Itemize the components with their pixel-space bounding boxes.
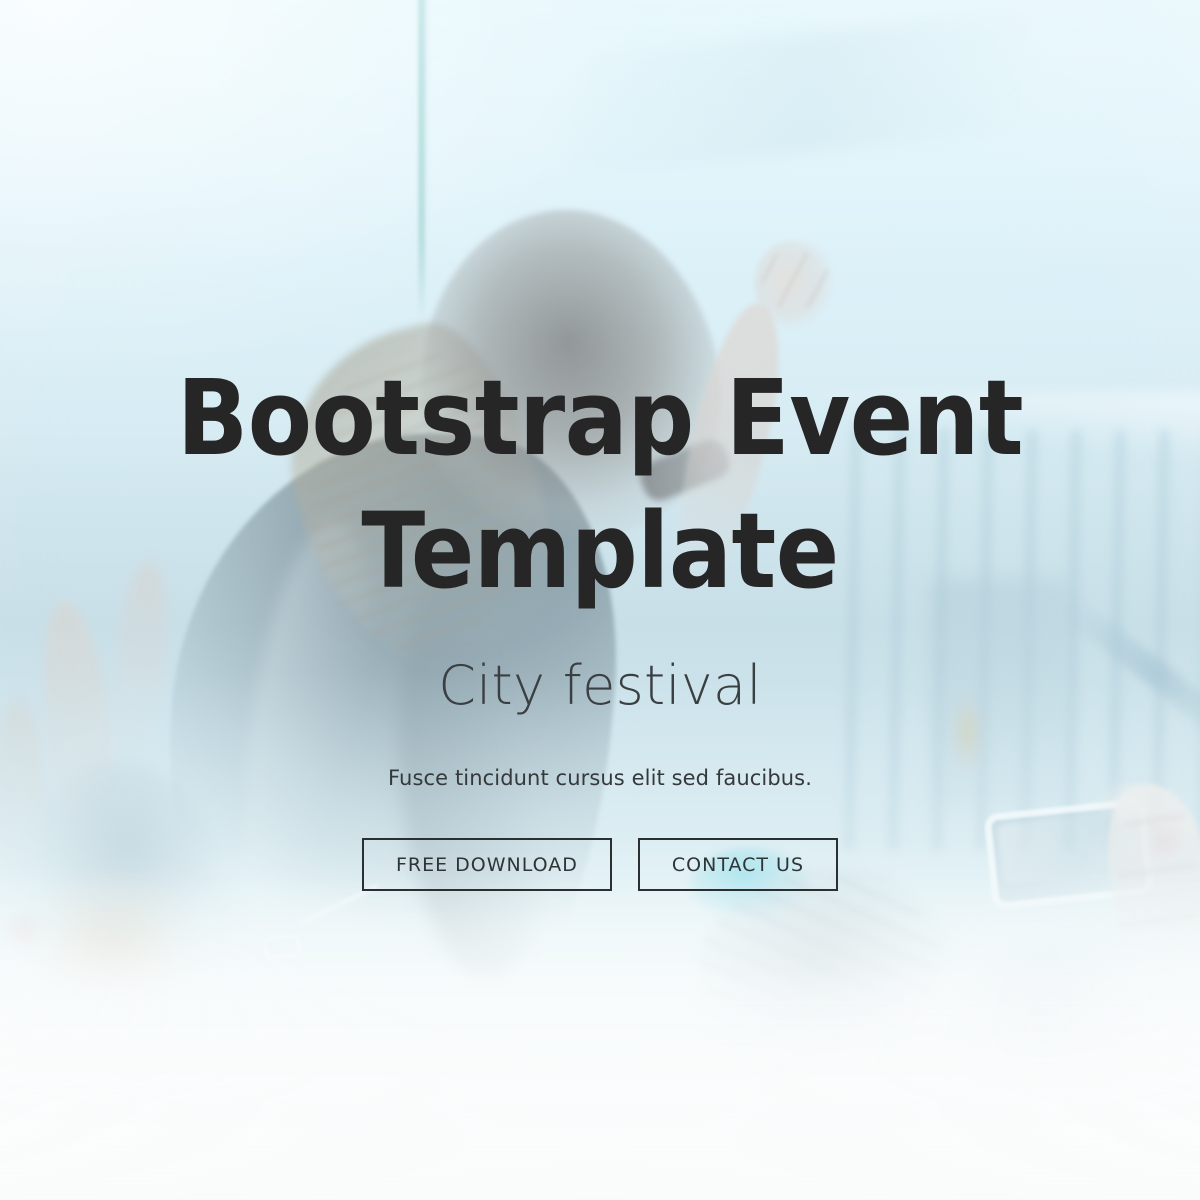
hero-subtitle: City festival xyxy=(438,656,762,715)
free-download-button[interactable]: FREE DOWNLOAD xyxy=(362,838,612,891)
hero-section: Bootstrap Event Template City festival F… xyxy=(0,0,1200,1200)
page-title: Bootstrap Event Template xyxy=(170,352,1030,618)
hero-button-group: FREE DOWNLOAD CONTACT US xyxy=(362,838,838,891)
hero-lead-text: Fusce tincidunt cursus elit sed faucibus… xyxy=(388,764,812,793)
contact-us-button[interactable]: CONTACT US xyxy=(638,838,838,891)
hero-content: Bootstrap Event Template City festival F… xyxy=(0,0,1200,1200)
